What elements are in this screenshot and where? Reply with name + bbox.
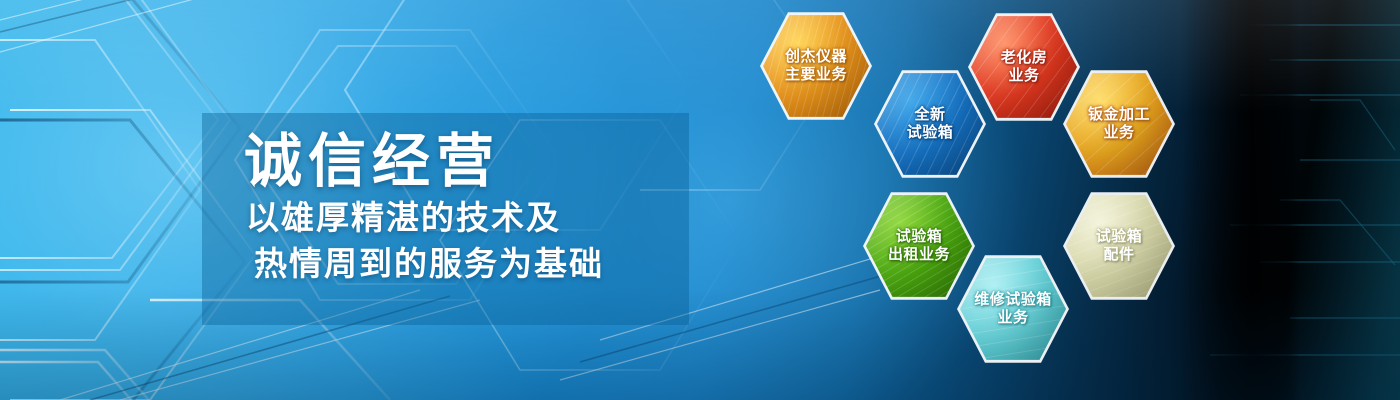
slogan-line-2: 热情周到的服务为基础 <box>254 243 604 289</box>
page-title: 诚信经营 <box>244 133 500 191</box>
slogan-panel: 诚信经营 以雄厚精湛的技术及 热情周到的服务为基础 <box>202 113 689 325</box>
promo-banner: 诚信经营 以雄厚精湛的技术及 热情周到的服务为基础 创杰仪器 主要业务全新 试验… <box>0 0 1400 400</box>
slogan-line-1: 以雄厚精湛的技术及 <box>246 197 561 243</box>
